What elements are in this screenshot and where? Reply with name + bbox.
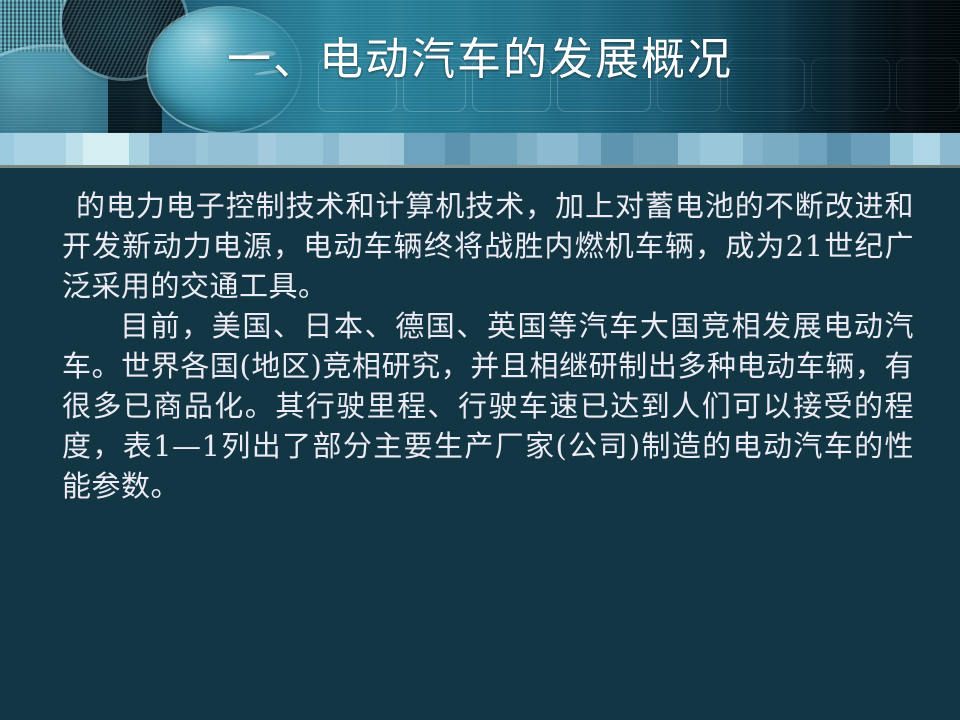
band-stripe — [83, 133, 130, 165]
band-stripe — [827, 133, 850, 165]
band-stripe — [339, 133, 389, 165]
band-stripe — [323, 133, 339, 165]
slide-body: 的电力电子控制技术和计算机技术，加上对蓄电池的不断改进和开发新动力电源，电动车辆… — [0, 168, 960, 720]
band-stripe — [763, 133, 799, 165]
body-paragraph-1: 的电力电子控制技术和计算机技术，加上对蓄电池的不断改进和开发新动力电源，电动车辆… — [0, 186, 960, 306]
band-stripe — [14, 133, 66, 165]
band-stripe — [445, 133, 470, 165]
slide-header-banner: 一、电动汽车的发展概况 — [0, 0, 960, 133]
band-stripe — [129, 133, 149, 165]
band-stripe — [149, 133, 196, 165]
presentation-slide: 一、电动汽车的发展概况 的电力电子控制技术和计算机技术，加上对蓄电池的不断改进和… — [0, 0, 960, 720]
band-stripe — [0, 133, 14, 165]
band-stripe — [890, 133, 913, 165]
band-stripe — [537, 133, 578, 165]
band-stripe — [470, 133, 517, 165]
band-stripe — [601, 133, 633, 165]
band-stripe — [258, 133, 276, 165]
header-stripe-band — [0, 133, 960, 165]
band-stripe — [517, 133, 537, 165]
band-stripe — [913, 133, 940, 165]
band-stripe — [196, 133, 209, 165]
band-stripe — [799, 133, 828, 165]
band-stripe — [633, 133, 678, 165]
band-stripe — [208, 133, 258, 165]
band-stripe — [743, 133, 763, 165]
band-stripe — [578, 133, 601, 165]
band-stripe — [389, 133, 403, 165]
band-stripe — [851, 133, 890, 165]
band-stripe — [404, 133, 445, 165]
band-stripe — [276, 133, 323, 165]
band-stripe — [940, 133, 960, 165]
band-stripe — [700, 133, 743, 165]
page-title: 一、电动汽车的发展概况 — [0, 32, 960, 88]
band-stripe — [66, 133, 82, 165]
band-stripe — [678, 133, 700, 165]
body-paragraph-2: 目前，美国、日本、德国、英国等汽车大国竞相发展电动汽车。世界各国(地区)竞相研究… — [0, 306, 960, 506]
